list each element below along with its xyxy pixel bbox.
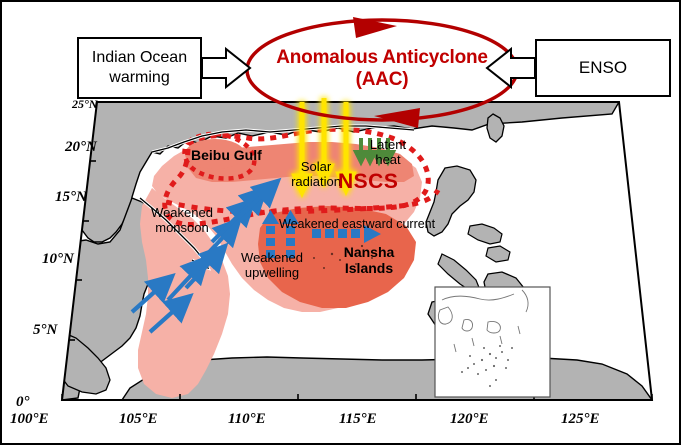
y-tick-0: 0° [16,394,30,411]
arrow-indian-to-aac [202,49,250,87]
box-indian-ocean-warming[interactable]: Indian Ocean warming [77,37,202,99]
figure-root: Indian Ocean warming ENSO Anomalous Anti… [0,0,681,445]
y-tick-10n: 10°N [42,251,74,268]
x-tick-115e: 115°E [339,411,377,428]
x-tick-100e: 100°E [10,411,49,428]
box-enso[interactable]: ENSO [535,39,671,97]
label-weakened-upwelling: Weakened upwelling [232,251,312,280]
label-beibu-gulf: Beibu Gulf [191,148,262,164]
y-tick-5n: 5°N [33,322,57,339]
x-tick-105e: 105°E [119,411,158,428]
label-nscs: NSCS [338,170,398,194]
y-tick-20n: 20°N [65,139,97,156]
label-weakened-eastward-current: Weakened eastward current [279,217,435,231]
x-tick-110e: 110°E [228,411,266,428]
y-tick-15n: 15°N [55,189,87,206]
label-nansha-islands: Nansha Islands [331,245,407,276]
label-latent-heat: Latent heat [362,138,414,167]
box-indian-ocean-warming-label: Indian Ocean warming [92,48,187,87]
x-tick-120e: 120°E [450,411,489,428]
label-weakened-monsoon: Weakened monsoon [140,206,224,235]
box-enso-label: ENSO [579,58,627,79]
aac-label: Anomalous Anticyclone (AAC) [258,47,506,92]
y-tick-25n: 25°N [72,97,97,112]
x-tick-125e: 125°E [561,411,600,428]
inset-map-box [435,287,550,397]
